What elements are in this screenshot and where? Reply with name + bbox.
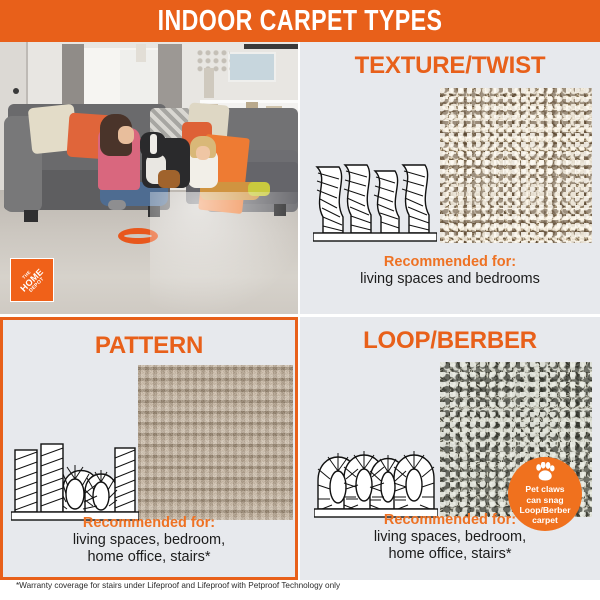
photo-ceiling-rail <box>244 44 298 49</box>
recommended-block-texture-twist: Recommended for: living spaces and bedro… <box>300 254 600 288</box>
panel-title-pattern: PATTERN <box>3 334 295 358</box>
recommended-body: living spaces, bedroom, home office, sta… <box>3 532 295 566</box>
panel-pattern[interactable]: PATTERN <box>0 317 298 580</box>
photo-woman-face <box>118 126 134 144</box>
panel-title-loop-berber: LOOP/BERBER <box>300 329 600 353</box>
texture-twist-fiber-diagram <box>313 159 437 244</box>
panel-title-texture-twist: TEXTURE/TWIST <box>300 54 600 78</box>
the-home-depot-logo: THE HOME DEPOT <box>10 258 54 302</box>
pattern-carpet-swatch <box>138 365 293 520</box>
photo-child-face <box>196 146 210 160</box>
photo-sofa-leg <box>24 210 38 222</box>
pattern-fiber-diagram <box>11 440 139 522</box>
panel-texture-twist[interactable]: TEXTURE/TWIST Recommended fo <box>300 42 600 314</box>
loop-berber-fiber-diagram <box>314 435 438 519</box>
paw-print-icon <box>534 462 556 482</box>
recommended-heading: Recommended for: <box>300 254 600 271</box>
panel-loop-berber[interactable]: LOOP/BERBER <box>300 317 600 580</box>
recommended-heading: Recommended for: <box>300 512 600 529</box>
recommended-block-loop-berber: Recommended for: living spaces, bedroom,… <box>300 512 600 562</box>
texture-twist-carpet-swatch <box>440 88 592 243</box>
panel-living-room-photo: THE HOME DEPOT <box>0 42 298 314</box>
page-title: INDOOR CARPET TYPES <box>158 7 443 36</box>
recommended-heading: Recommended for: <box>3 515 295 532</box>
photo-sunlight-glow <box>150 192 298 314</box>
header-banner: INDOOR CARPET TYPES <box>0 0 600 42</box>
warranty-footnote: *Warranty coverage for stairs under Life… <box>0 582 600 590</box>
photo-door-knob <box>13 88 19 94</box>
recommended-block-pattern: Recommended for: living spaces, bedroom,… <box>3 515 295 565</box>
living-room-photo: THE HOME DEPOT <box>0 42 298 314</box>
recommended-body: living spaces and bedrooms <box>300 271 600 288</box>
photo-pendant-lamp <box>136 44 146 62</box>
photo-wall-art <box>228 52 276 82</box>
recommended-body: living spaces, bedroom, home office, sta… <box>300 529 600 563</box>
photo-dog-marking <box>158 170 180 188</box>
carpet-types-grid: THE HOME DEPOT TEXTURE/TWIST <box>0 42 600 580</box>
photo-woman-foot <box>108 200 126 210</box>
photo-dog-blaze <box>150 134 157 154</box>
photo-vase <box>204 68 214 98</box>
